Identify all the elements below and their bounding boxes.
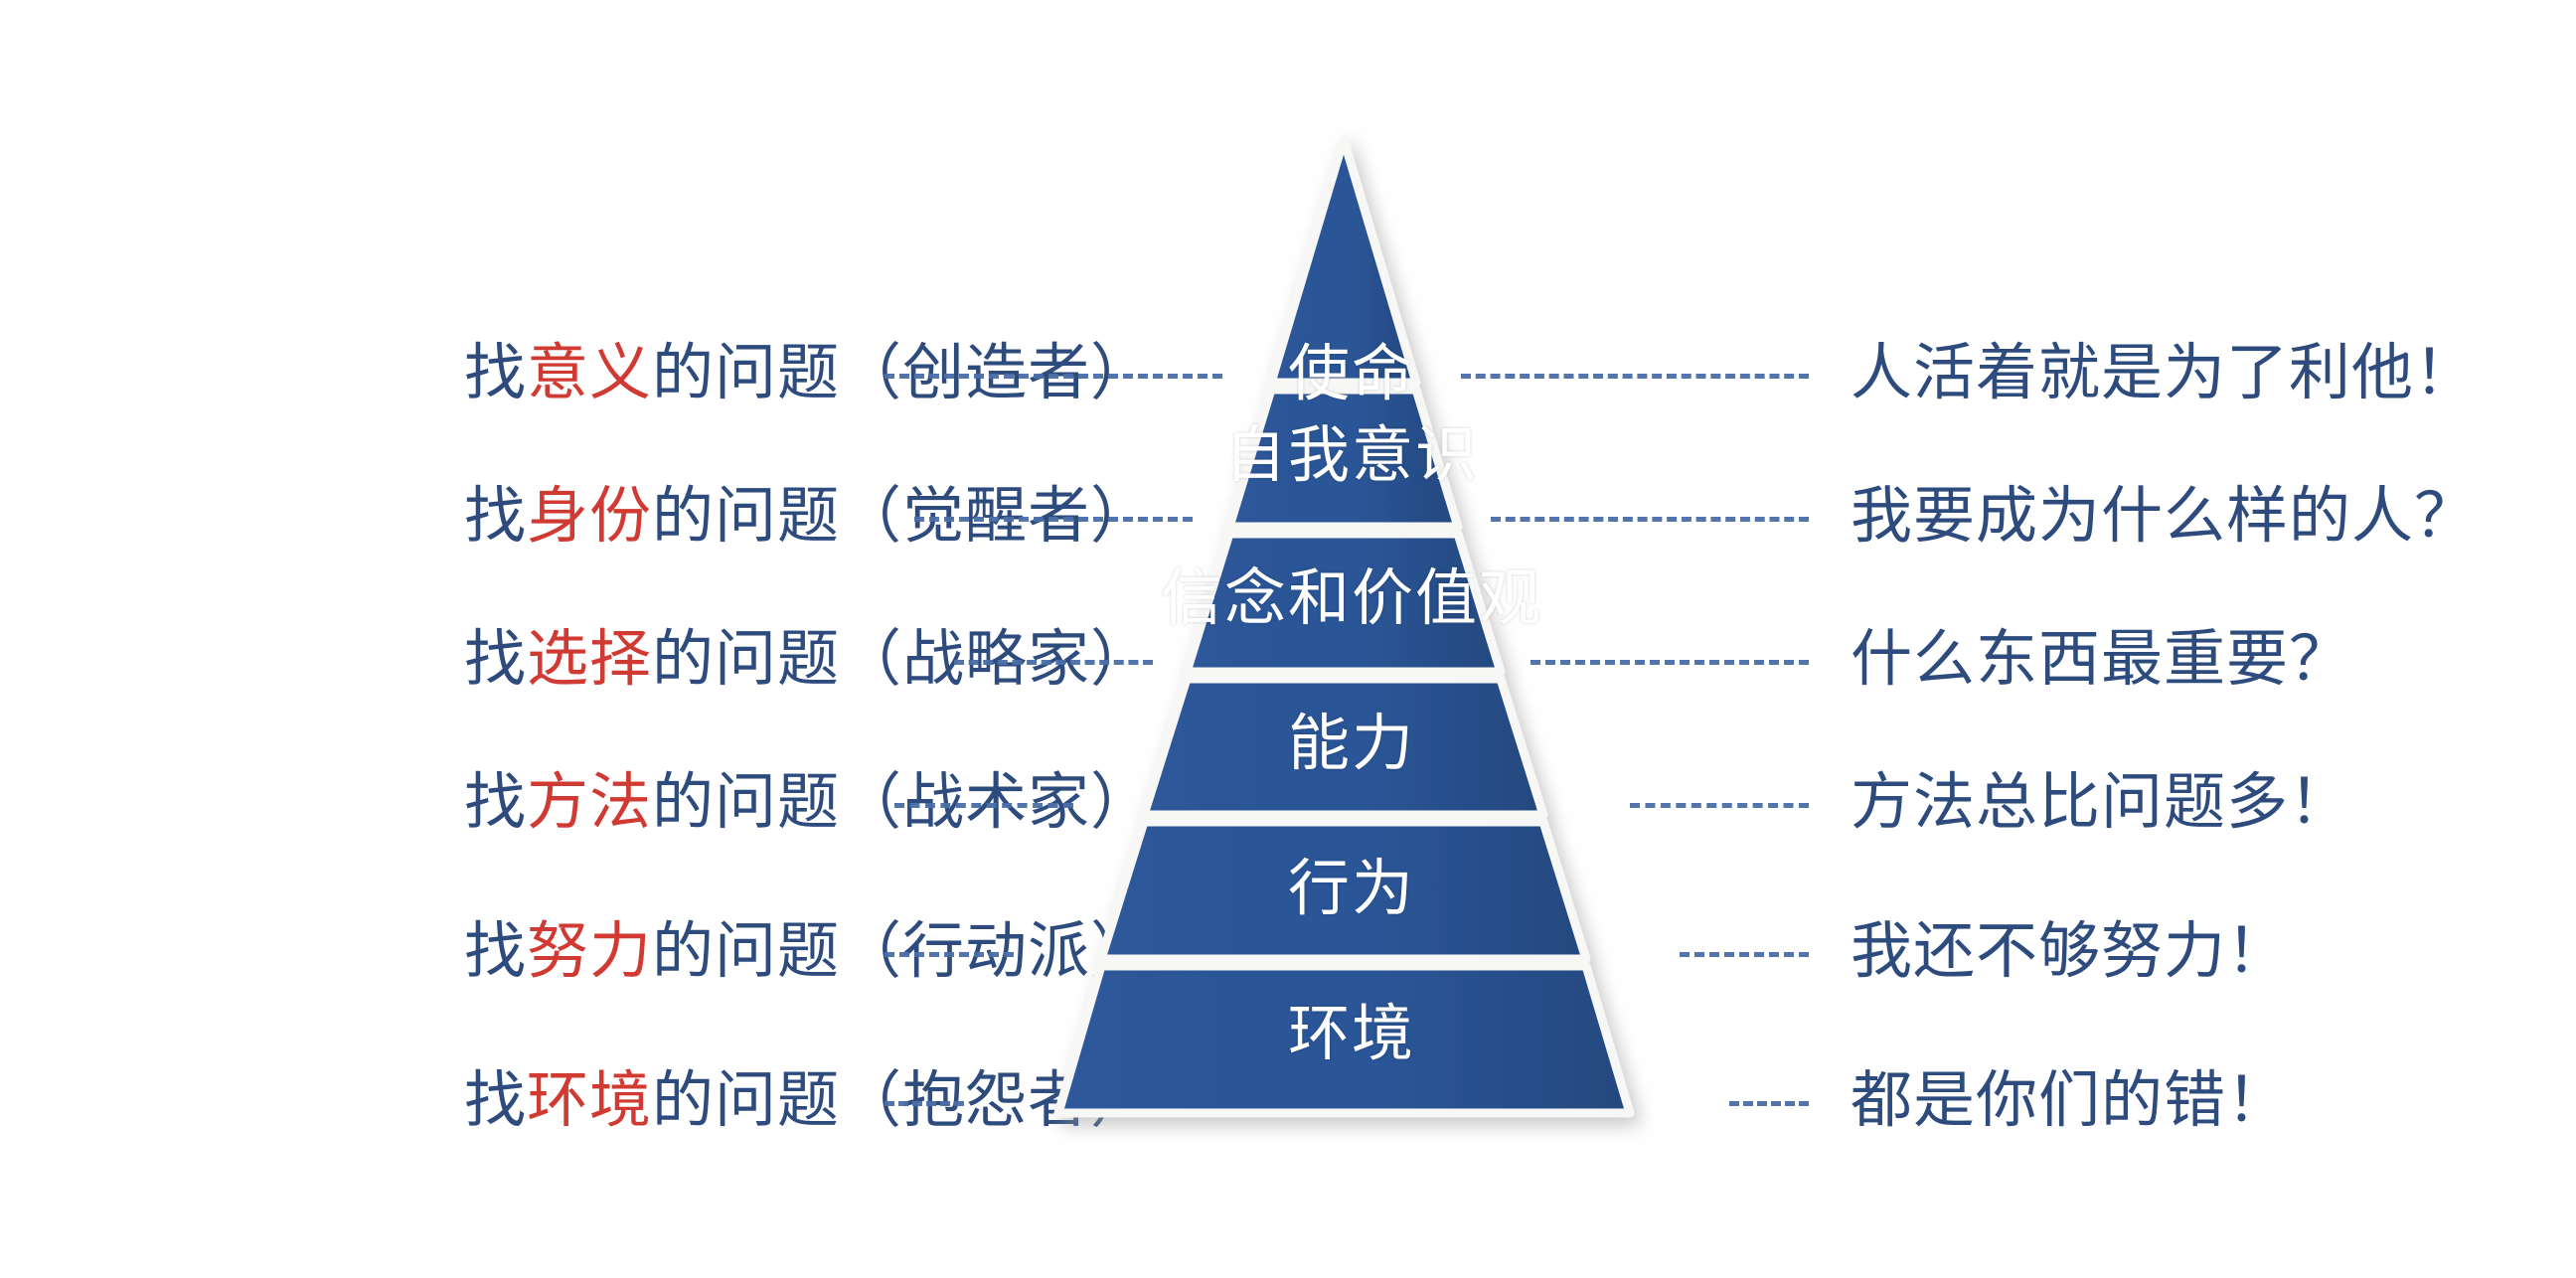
left-prefix-self-identity: 找 [464,486,527,548]
left-prefix-behavior: 找 [464,921,527,983]
pyramid-band-mission [1271,139,1416,383]
right-label-beliefs: 什么东西最重要？ [1851,614,2351,706]
left-prefix-mission: 找 [464,343,527,404]
pyramid-diagram: 使命 自我意识 信念和价值观 能力 行为 环境 [875,119,1829,1222]
left-prefix-environment: 找 [464,1070,527,1132]
right-label-mission: 人活着就是为了利他！ [1851,328,2477,419]
left-keyword-mission: 意义 [527,343,652,404]
left-keyword-environment: 环境 [527,1070,652,1132]
pyramid-band-behavior [1101,822,1586,959]
pyramid-band-environment [1058,966,1630,1113]
right-label-capability: 方法总比问题多！ [1851,757,2351,849]
left-keyword-behavior: 努力 [527,921,652,983]
left-prefix-beliefs: 找 [464,629,527,691]
left-keyword-self-identity: 身份 [527,486,652,548]
right-label-environment: 都是你们的错！ [1851,1055,2289,1147]
right-label-self-identity: 我要成为什么样的人？ [1851,471,2477,562]
left-keyword-capability: 方法 [527,772,652,834]
right-label-behavior: 我还不够努力！ [1851,906,2289,998]
slide-canvas: 找意义的问题（创造者） 找身份的问题（觉醒者） 找选择的问题（战略家） 找方法的… [0,0,2576,1278]
left-prefix-capability: 找 [464,772,527,834]
pyramid-band-capability [1144,679,1543,815]
pyramid-band-self-identity [1229,390,1458,527]
left-keyword-beliefs: 选择 [527,629,652,691]
pyramid-band-beliefs [1187,534,1501,672]
